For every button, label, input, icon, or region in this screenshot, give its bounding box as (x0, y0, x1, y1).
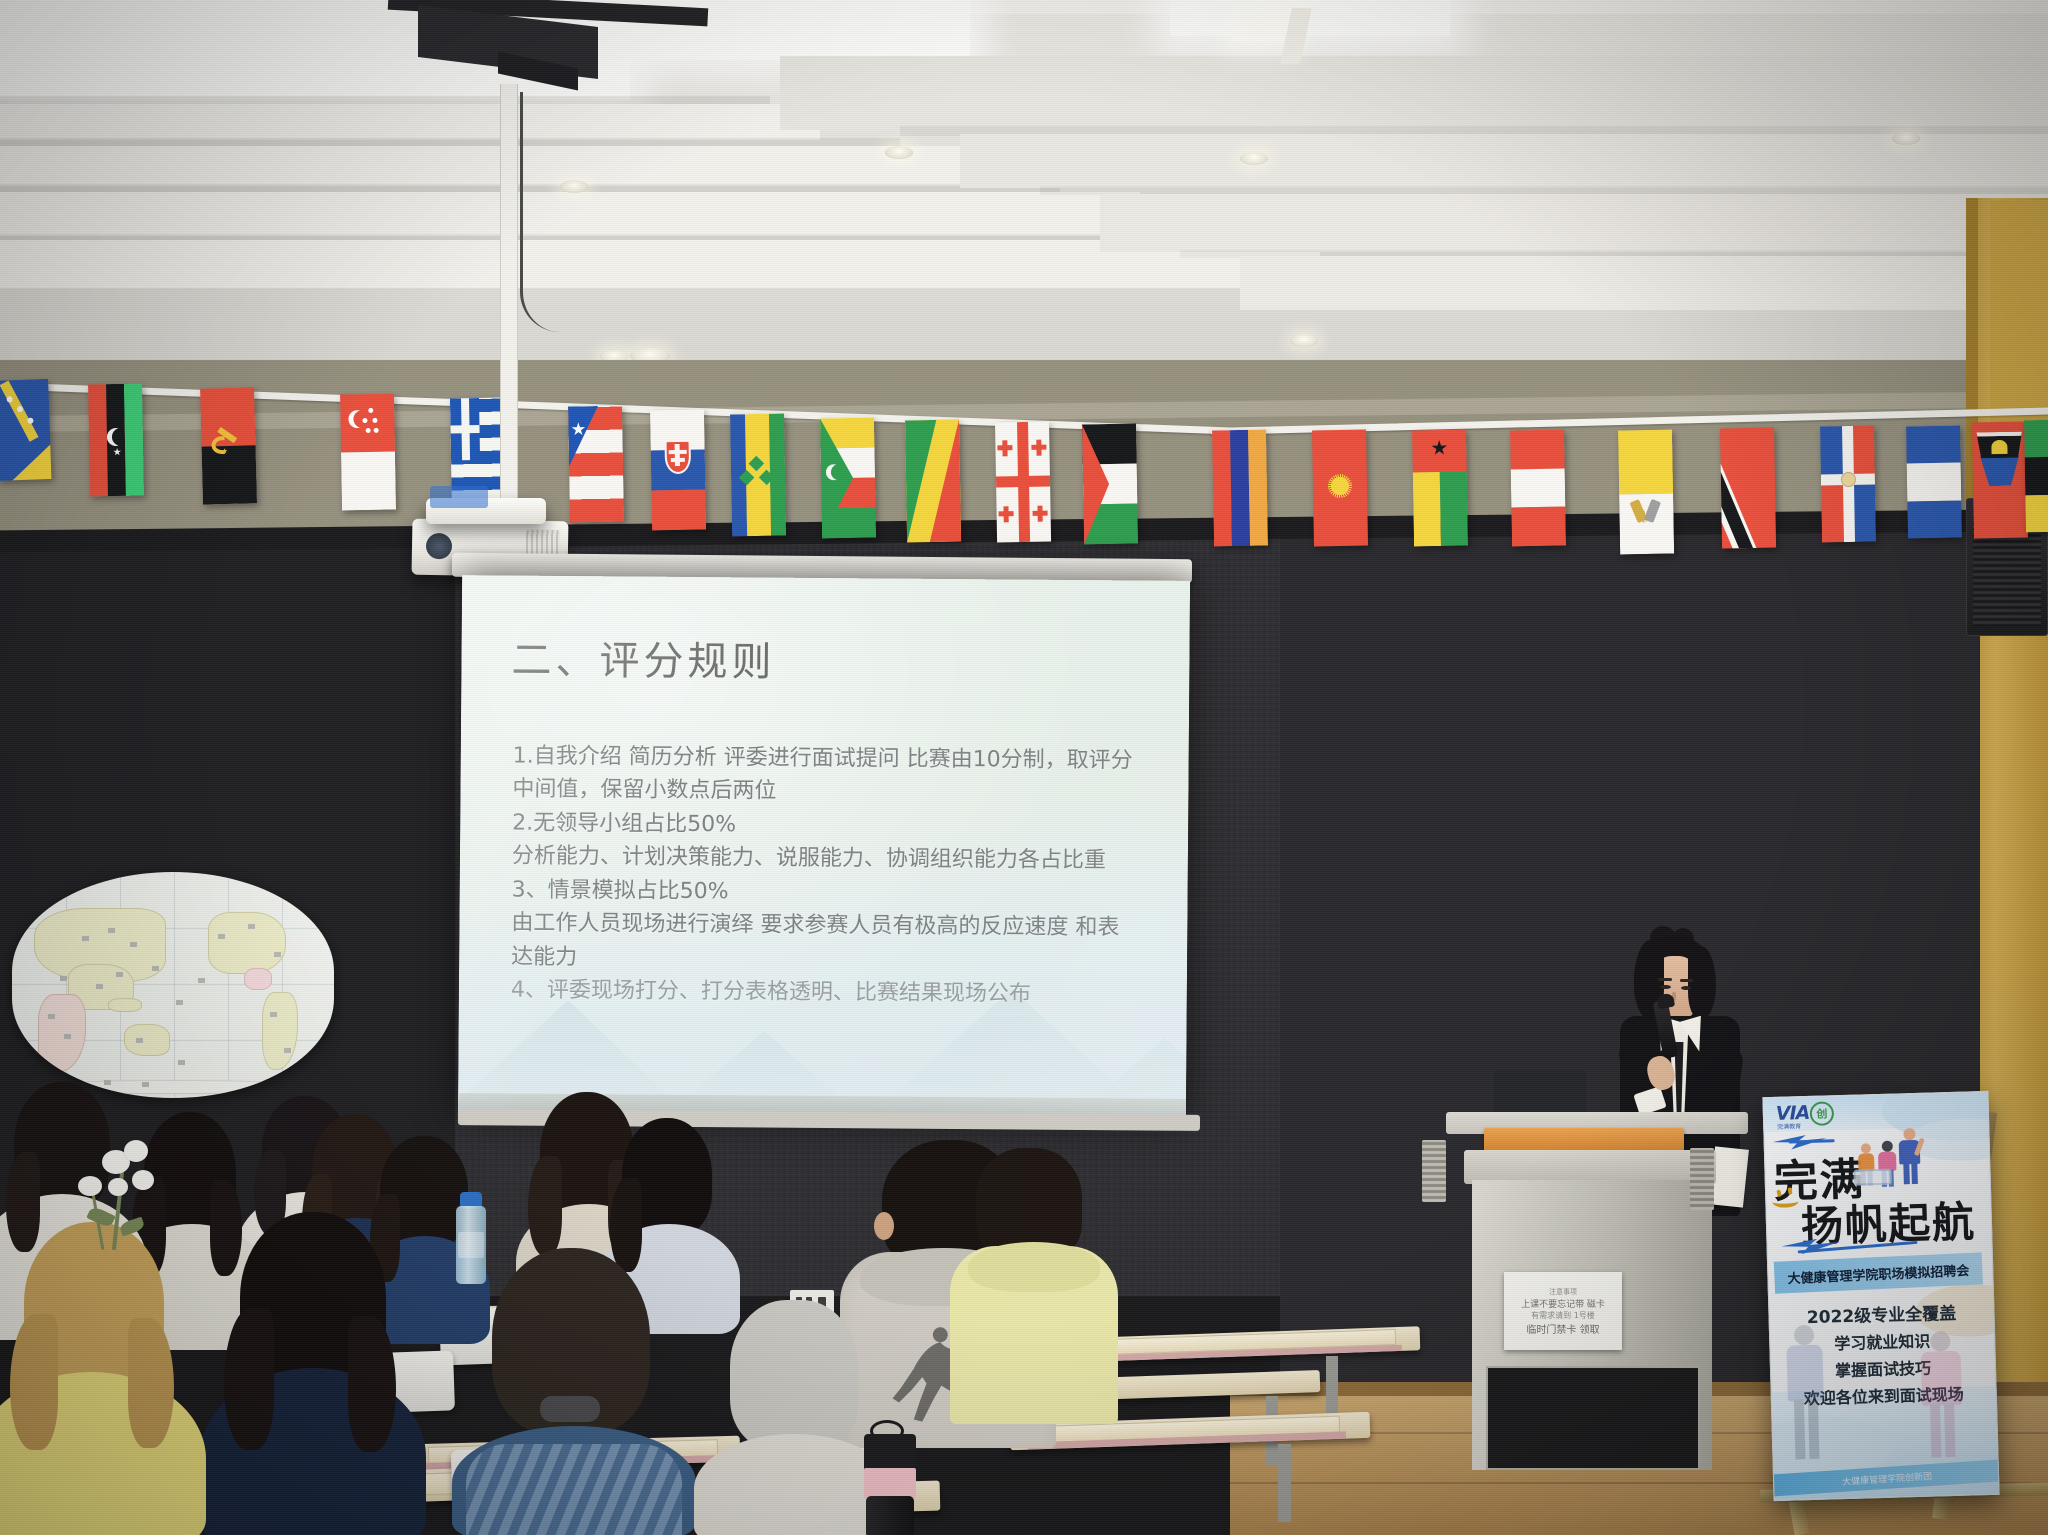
downlight (885, 146, 913, 159)
flag-dominican-republic (1820, 426, 1876, 543)
flag-palestine (1082, 424, 1138, 545)
projector-mount-rod (500, 84, 518, 554)
flag-antigua-and-barbuda (1972, 422, 2028, 539)
audience-member (0, 1222, 210, 1535)
slide-line-8: 4、评委现场打分、打分表格透明、比赛结果现场公布 (511, 974, 1131, 1012)
flag-trinidad-and-tobago (1720, 428, 1776, 549)
world-map-poster (12, 872, 334, 1098)
illustration-person-3 (1898, 1128, 1922, 1185)
flag-kyrgyzstan (1312, 430, 1368, 547)
projection-screen: 二、评分规则 1.自我介绍 简历分析 评委进行面试提问 比赛由10分制，取评分 … (458, 575, 1190, 1123)
hair-scrunchie (540, 1396, 600, 1422)
flag-armenia (1212, 430, 1268, 547)
flag-bunting: ⚜ (0, 368, 2048, 558)
slide-line-6: 由工作人员现场进行演绎 要求参赛人员有极高的反应速度 和表 (511, 907, 1131, 945)
flag-georgia (995, 422, 1051, 543)
plaid-shirt (466, 1444, 682, 1535)
flag-bosnia-and-herzegovina (0, 379, 51, 481)
downlight (1240, 152, 1268, 165)
illustration-ghost-person-left (1784, 1325, 1828, 1460)
projector-shadow-reflection (430, 486, 488, 508)
flag-nicaragua (1906, 426, 1962, 539)
podium-upper-band (1464, 1150, 1716, 1184)
podium-side-vent-right (1690, 1148, 1714, 1210)
podium-sign-header: 注意事项 (1549, 1287, 1577, 1297)
downlight (1892, 132, 1920, 145)
event-poster: VIA 完满教育 创 完满 扬帆起航 (1762, 1091, 1999, 1501)
podium-sign-line-3: 临时门禁卡 领取 (1526, 1321, 1599, 1336)
projector-cable (520, 92, 570, 332)
slide-line-2: 中间值，保留小数点后两位 (512, 773, 1132, 811)
podium: 注意事项 上课不要忘记带 磁卡 有需求请到 1号楼 临时门禁卡 领取 (1452, 1080, 1742, 1470)
photo-scene: ⚜ (0, 0, 2048, 1535)
audience-member (196, 1212, 426, 1535)
flag-guinea-bissau (1412, 430, 1468, 547)
laptop-on-podium (1494, 1070, 1586, 1116)
thermos-bottle[interactable] (858, 1424, 922, 1535)
ceiling (0, 0, 2048, 372)
poster-ribbon-text: 大健康管理学院职场模拟招聘会 (1787, 1259, 1970, 1286)
slide-line-5: 3、情景模拟占比50% (512, 873, 1132, 911)
flag-puerto-rico (568, 406, 624, 523)
downlight (1290, 334, 1318, 347)
podium-notice-sign: 注意事项 上课不要忘记带 磁卡 有需求请到 1号楼 临时门禁卡 领取 (1504, 1272, 1622, 1350)
slide-line-1: 1.自我介绍 简历分析 评委进行面试提问 比赛由10分制，取评分 (513, 740, 1133, 778)
audience-member (448, 1248, 698, 1535)
illustration-desk (1853, 1169, 1891, 1186)
flag-mozambique (2024, 420, 2048, 533)
flag-singapore (340, 394, 396, 511)
logo-leaf-glyph: 创 (1816, 1105, 1827, 1121)
slide-content: 二、评分规则 1.自我介绍 简历分析 评委进行面试提问 比赛由10分制，取评分 … (458, 575, 1190, 1123)
slide-title: 二、评分规则 (511, 628, 775, 688)
flag-republic-of-the-congo (905, 420, 961, 543)
flag-libya (88, 384, 144, 497)
flag-saint-vincent-and-the-grenadines (730, 414, 786, 537)
water-bottle[interactable] (454, 1192, 488, 1284)
flag-angola (200, 387, 257, 504)
podium-sign-line-1: 上课不要忘记带 磁卡 (1521, 1297, 1605, 1310)
podium-front-panel (1486, 1366, 1700, 1470)
slide-line-7: 达能力 (511, 940, 1131, 978)
slide-body: 1.自我介绍 简历分析 评委进行面试提问 比赛由10分制，取评分 中间值，保留小… (511, 740, 1133, 1012)
logo-via-subtitle: 完满教育 (1777, 1121, 1801, 1131)
podium-sign-line-2: 有需求请到 1号楼 (1531, 1310, 1595, 1321)
illustration-ghost-person-right (1918, 1331, 1966, 1458)
white-flowers (62, 1132, 182, 1252)
flag-austria (1510, 430, 1566, 547)
podium-side-vent-left (1422, 1140, 1446, 1202)
projector-lens (426, 533, 452, 559)
slide-line-3: 2.无领导小组占比50% (512, 806, 1132, 844)
poster-footer-text: 大健康管理学院创新团 (1842, 1468, 1933, 1487)
flag-slovakia (650, 410, 706, 531)
flag-vatican-city: ⚜ (1618, 430, 1674, 555)
flag-comoros (820, 418, 876, 539)
audience-member-yellow-hoodie (940, 1148, 1120, 1418)
slide-line-4: 分析能力、计划决策能力、说服能力、协调组织能力各占比重 (512, 840, 1132, 878)
